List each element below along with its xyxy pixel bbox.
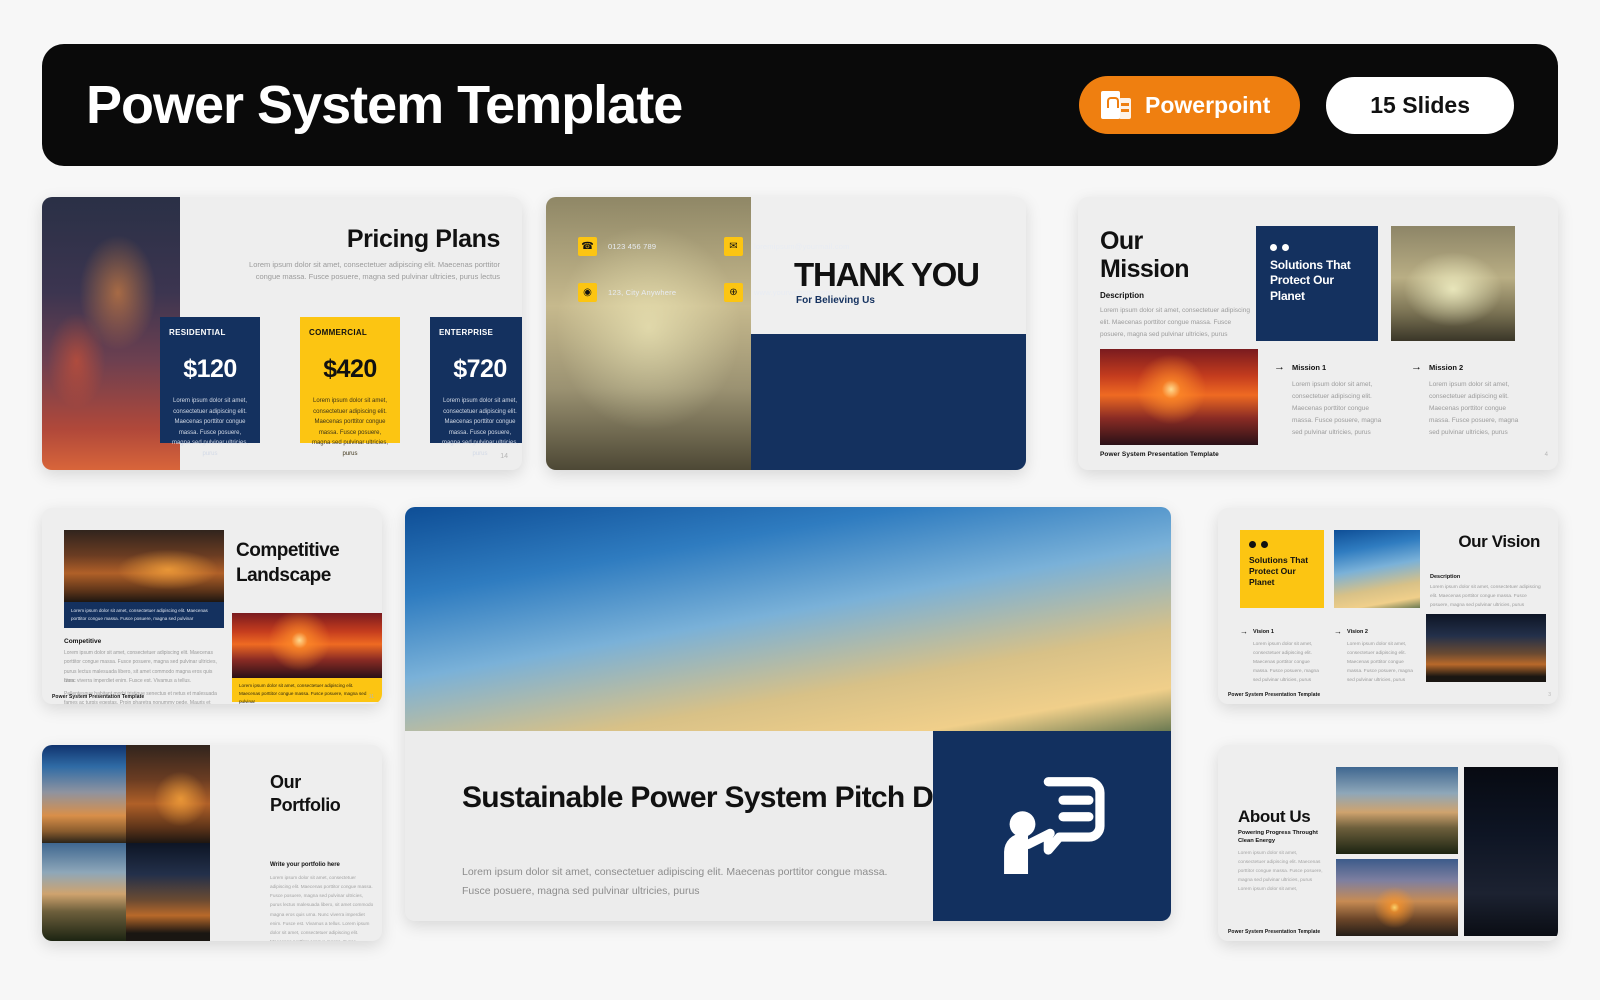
mission-photo-bottom-left	[1100, 349, 1258, 445]
about-photo-2	[1336, 859, 1458, 936]
hero-photo-transmission-towers	[405, 507, 1171, 731]
competitive-photo-bottom	[232, 613, 382, 678]
price-card-amount: $420	[309, 355, 391, 384]
contact-address[interactable]: ◉ 123, City Anywhere	[578, 283, 676, 302]
arrow-right-icon: →	[1334, 628, 1342, 636]
competitive-paragraph-2: Nunc viverra imperdiet enim. Fusce est. …	[64, 677, 219, 686]
mission-page-number: 4	[1545, 452, 1548, 458]
vision-page-number: 3	[1548, 692, 1551, 698]
mission-item-2: → Mission 2 Lorem ipsum dolor sit amet, …	[1411, 362, 1527, 439]
competitive-title-line1: Competitive	[236, 540, 339, 561]
arrow-right-icon: →	[1240, 628, 1248, 636]
mission-title-line2: Mission	[1100, 255, 1189, 283]
arrow-right-icon: →	[1274, 362, 1285, 373]
portfolio-photo-grid	[42, 745, 210, 941]
slide-thumbnail-competitive-landscape[interactable]: Lorem ipsum dolor sit amet, consectetuer…	[42, 508, 382, 704]
price-card-label: COMMERCIAL	[309, 328, 391, 337]
contact-email[interactable]: ✉ loremipsum@yourmail.com	[724, 237, 850, 256]
two-dots-icon	[1270, 244, 1364, 251]
vision-item-body: Lorem ipsum dolor sit amet, consectetuer…	[1334, 640, 1418, 686]
portfolio-heading: Write your portfolio here	[270, 862, 340, 868]
hero-badge-panel	[933, 731, 1171, 921]
contact-phone-text: 0123 456 789	[608, 242, 656, 251]
price-card-amount: $720	[439, 355, 521, 384]
page-title: Power System Template	[86, 74, 1079, 136]
competitive-caption-gold: Lorem ipsum dolor sit amet, consectetuer…	[232, 678, 382, 702]
preview-page: Power System Template Powerpoint 15 Slid…	[0, 0, 1600, 1000]
mission-photo-top-right	[1391, 226, 1515, 341]
globe-icon: ⊕	[724, 283, 743, 302]
format-badge-label: Powerpoint	[1145, 92, 1270, 119]
vision-item-title: Vision 1	[1253, 629, 1274, 635]
mission-callout-text: Solutions That Protect Our Planet	[1270, 258, 1364, 304]
presentation-speaker-icon	[993, 767, 1111, 885]
vision-description-heading: Description	[1430, 574, 1460, 580]
portfolio-body: Lorem ipsum dolor sit amet, consectetuer…	[270, 873, 375, 941]
slide-thumbnail-our-portfolio[interactable]: Our Portfolio Write your portfolio here …	[42, 745, 382, 941]
portfolio-title: Our Portfolio	[270, 771, 340, 817]
vision-callout-box: Solutions That Protect Our Planet	[1240, 530, 1324, 608]
price-card-label: RESIDENTIAL	[169, 328, 251, 337]
mission-item-body: Lorem ipsum dolor sit amet, consectetuer…	[1411, 379, 1527, 439]
portfolio-photo-4	[126, 843, 210, 941]
mission-item-title: Mission 2	[1429, 363, 1463, 372]
vision-footer: Power System Presentation Template	[1228, 692, 1320, 698]
contact-website-text: www.yourwebsite.com	[754, 288, 832, 297]
slide-thumbnail-title-hero[interactable]: Sustainable Power System Pitch Deck Lore…	[405, 507, 1171, 921]
contact-address-text: 123, City Anywhere	[608, 288, 676, 297]
slide-thumbnail-our-vision[interactable]: Solutions That Protect Our Planet Our Vi…	[1218, 508, 1558, 704]
price-card-desc: Lorem ipsum dolor sit amet, consectetuer…	[439, 396, 521, 459]
arrow-right-icon: →	[1411, 362, 1422, 373]
price-card-amount: $120	[169, 355, 251, 384]
portfolio-photo-2	[126, 745, 210, 843]
vision-title: Our Vision	[1458, 532, 1540, 552]
pricing-title: Pricing Plans	[347, 225, 500, 254]
vision-description-body: Lorem ipsum dolor sit amet, consectetuer…	[1430, 584, 1545, 611]
competitive-caption-navy: Lorem ipsum dolor sit amet, consectetuer…	[64, 602, 224, 628]
mission-description-body: Lorem ipsum dolor sit amet, consectetuer…	[1100, 305, 1257, 341]
slide-thumbnail-pricing-plans[interactable]: Pricing Plans Lorem ipsum dolor sit amet…	[42, 197, 522, 470]
vision-item-title: Vision 2	[1347, 629, 1368, 635]
competitive-photo-top	[64, 530, 224, 602]
competitive-title: Competitive Landscape	[236, 538, 339, 588]
price-card-commercial[interactable]: COMMERCIAL $420 Lorem ipsum dolor sit am…	[300, 317, 400, 443]
vision-photo-tower	[1334, 530, 1420, 608]
location-pin-icon: ◉	[578, 283, 597, 302]
competitive-title-line2: Landscape	[236, 565, 331, 586]
thankyou-contact-block	[751, 334, 1026, 470]
mission-footer: Power System Presentation Template	[1100, 451, 1219, 458]
price-card-enterprise[interactable]: ENTERPRISE $720 Lorem ipsum dolor sit am…	[430, 317, 522, 443]
about-photo-1	[1336, 767, 1458, 854]
slides-count-badge[interactable]: 15 Slides	[1326, 77, 1514, 134]
portfolio-title-line1: Our	[270, 772, 301, 792]
price-card-label: ENTERPRISE	[439, 328, 521, 337]
header-bar: Power System Template Powerpoint 15 Slid…	[42, 44, 1558, 166]
slide-thumbnail-thank-you[interactable]: THANK YOU For Believing Us ☎ 0123 456 78…	[546, 197, 1026, 470]
vision-item-body: Lorem ipsum dolor sit amet, consectetuer…	[1240, 640, 1324, 686]
about-body: Lorem ipsum dolor sit amet, consectetuer…	[1238, 849, 1323, 895]
vision-item-1: → Vision 1 Lorem ipsum dolor sit amet, c…	[1240, 628, 1324, 686]
slide-thumbnail-our-mission[interactable]: Our Mission Description Lorem ipsum dolo…	[1078, 197, 1558, 470]
mission-item-1: → Mission 1 Lorem ipsum dolor sit amet, …	[1274, 362, 1390, 439]
hero-title: Sustainable Power System Pitch Deck	[462, 779, 981, 817]
format-badge[interactable]: Powerpoint	[1079, 76, 1300, 134]
price-card-residential[interactable]: RESIDENTIAL $120 Lorem ipsum dolor sit a…	[160, 317, 260, 443]
slide-thumbnail-about-us[interactable]: About Us Powering Progress Throught Clea…	[1218, 745, 1558, 941]
competitive-section-heading: Competitive	[64, 638, 101, 645]
about-title: About Us	[1238, 807, 1310, 827]
contact-website[interactable]: ⊕ www.yourwebsite.com	[724, 283, 832, 302]
mission-item-body: Lorem ipsum dolor sit amet, consectetuer…	[1274, 379, 1390, 439]
portfolio-photo-3	[42, 843, 126, 941]
pricing-subtitle: Lorem ipsum dolor sit amet, consectetuer…	[235, 259, 500, 284]
competitive-page-number: 11	[369, 694, 374, 700]
mail-icon: ✉	[724, 237, 743, 256]
vision-photo-wind-farm	[1426, 614, 1546, 682]
contact-email-text: loremipsum@yourmail.com	[754, 242, 850, 251]
price-card-desc: Lorem ipsum dolor sit amet, consectetuer…	[169, 396, 251, 459]
portfolio-title-line2: Portfolio	[270, 795, 340, 815]
portfolio-photo-1	[42, 745, 126, 843]
vision-callout-text: Solutions That Protect Our Planet	[1249, 555, 1315, 588]
mission-title: Our Mission	[1100, 227, 1189, 283]
mission-title-line1: Our	[1100, 227, 1143, 255]
competitive-footer: Power System Presentation Template	[52, 694, 144, 700]
phone-icon: ☎	[578, 237, 597, 256]
mission-callout-box: Solutions That Protect Our Planet	[1256, 226, 1378, 341]
about-photo-3	[1464, 767, 1558, 936]
hero-subtitle: Lorem ipsum dolor sit amet, consectetuer…	[462, 863, 902, 901]
price-card-desc: Lorem ipsum dolor sit amet, consectetuer…	[309, 396, 391, 459]
powerpoint-icon	[1101, 90, 1131, 120]
about-footer: Power System Presentation Template	[1228, 929, 1320, 935]
pricing-page-number: 14	[500, 453, 508, 460]
about-heading: Powering Progress Throught Clean Energy	[1238, 829, 1326, 846]
two-dots-icon	[1249, 541, 1315, 548]
contact-phone[interactable]: ☎ 0123 456 789	[578, 237, 656, 256]
mission-description-heading: Description	[1100, 291, 1144, 300]
mission-item-title: Mission 1	[1292, 363, 1326, 372]
vision-item-2: → Vision 2 Lorem ipsum dolor sit amet, c…	[1334, 628, 1418, 686]
